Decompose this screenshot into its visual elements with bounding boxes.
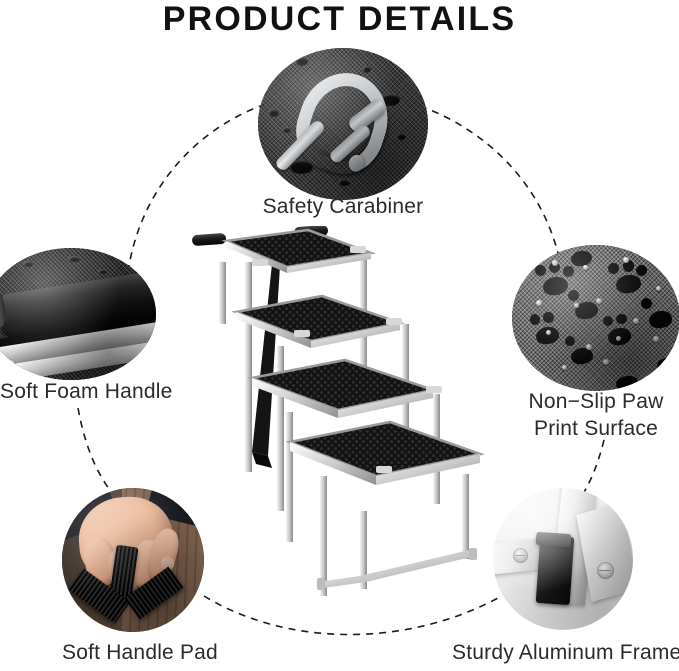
page-title: PRODUCT DETAILS — [0, 2, 679, 36]
infographic-stage: PRODUCT DETAILS — [0, 0, 679, 671]
callout-label-soft-foam-handle: Soft Foam Handle — [0, 379, 172, 405]
callout-image-soft-foam-handle — [0, 248, 156, 380]
callout-image-safety-carabiner — [258, 48, 428, 200]
callout-label-safety-carabiner: Safety Carabiner — [257, 194, 429, 220]
callout-image-paw-print-surface — [512, 245, 679, 391]
paw-label-line-2: Print Surface — [534, 417, 658, 440]
product-image-pet-stairs — [190, 226, 490, 598]
callout-image-soft-handle-pad — [62, 488, 204, 632]
callout-label-aluminum-frame: Sturdy Aluminum Frame — [452, 640, 679, 666]
arc-handlepad-to-frame — [204, 596, 498, 635]
callout-label-soft-handle-pad: Soft Handle Pad — [62, 640, 218, 666]
paw-label-line-1: Non−Slip Paw — [529, 390, 664, 413]
callout-label-paw-print-surface: Non−Slip Paw Print Surface — [508, 388, 679, 442]
callout-image-aluminum-frame — [493, 488, 633, 630]
arc-foamhandle-to-handlepad — [78, 408, 118, 500]
